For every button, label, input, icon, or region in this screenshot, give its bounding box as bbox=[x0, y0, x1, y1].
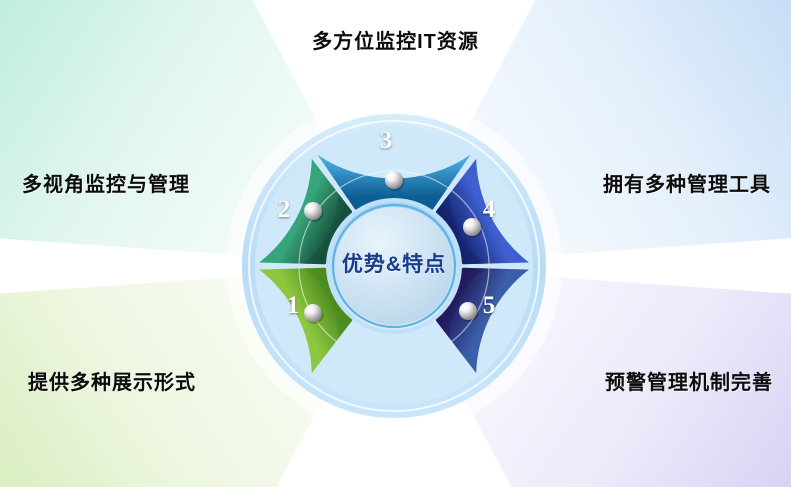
outer-label-left: 多视角监控与管理 bbox=[22, 168, 190, 197]
pentagon-wheel-diagram bbox=[0, 0, 791, 487]
marker-sphere-1[interactable] bbox=[304, 304, 322, 322]
outer-label-right: 拥有多种管理工具 bbox=[603, 168, 771, 197]
hub-disc[interactable] bbox=[335, 207, 453, 325]
diagram-canvas: 多方位监控IT资源 多视角监控与管理 拥有多种管理工具 提供多种展示形式 预警管… bbox=[0, 0, 791, 487]
outer-label-bottom-left: 提供多种展示形式 bbox=[28, 366, 196, 395]
outer-label-top: 多方位监控IT资源 bbox=[0, 25, 791, 54]
outer-label-bottom-right: 预警管理机制完善 bbox=[605, 366, 773, 395]
marker-sphere-3[interactable] bbox=[385, 171, 403, 189]
marker-sphere-5[interactable] bbox=[459, 302, 477, 320]
marker-sphere-4[interactable] bbox=[463, 218, 481, 236]
marker-sphere-2[interactable] bbox=[304, 202, 322, 220]
